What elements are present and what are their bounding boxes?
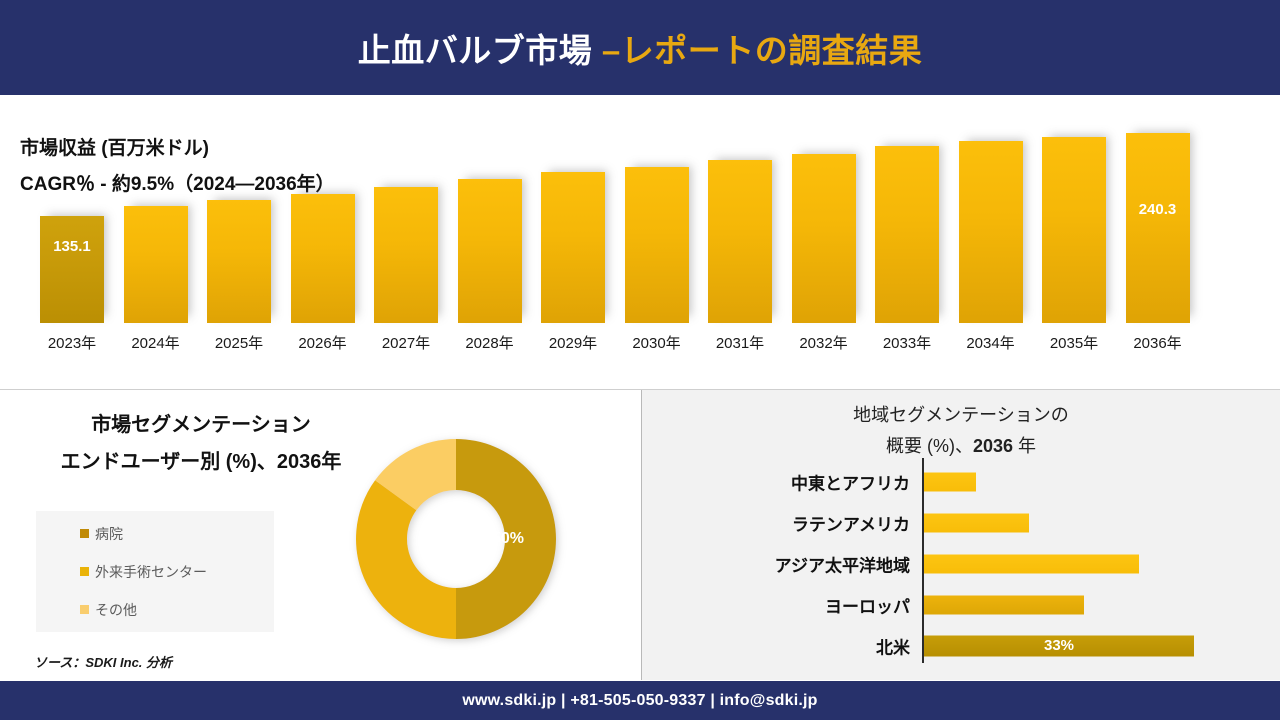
revenue-bars-container: 135.12023年2024年2025年2026年2027年2028年2029年… — [40, 121, 1240, 371]
region-row: ヨーロッパ — [642, 584, 1280, 625]
bar-category-label: 2026年 — [283, 332, 363, 353]
region-row-label: アジア太平洋地域 — [775, 551, 910, 576]
donut-slice — [356, 480, 456, 639]
region-row-label: ヨーロッパ — [825, 592, 910, 617]
bar-column: 2034年 — [959, 141, 1023, 323]
region-title: 地域セグメンテーションの 概要 (%)、2036 年 — [642, 401, 1280, 458]
bar-rect: 2029年 — [541, 172, 605, 323]
bar-column: 2024年 — [124, 206, 188, 323]
region-bar — [924, 595, 1084, 614]
bar-category-label: 2030年 — [617, 332, 697, 353]
legend-swatch-icon — [80, 529, 89, 538]
bar-column: 2030年 — [625, 167, 689, 323]
page-footer: www.sdki.jp | +81-505-050-9337 | info@sd… — [0, 681, 1280, 720]
page-title-secondary: –レポートの調査結果 — [602, 32, 922, 69]
donut-chart: 50% — [330, 414, 590, 664]
donut-title-line2: エンドユーザー別 (%)、2036年 — [36, 445, 366, 474]
region-row: 北米33% — [642, 625, 1280, 666]
bar-column: 2035年 — [1042, 137, 1106, 323]
bar-column: 2025年 — [207, 200, 271, 323]
bar-column: 2027年 — [374, 187, 438, 323]
bar-category-label: 2033年 — [867, 332, 947, 353]
donut-title-line1: 市場セグメンテーション — [36, 408, 366, 437]
region-bar — [924, 554, 1139, 573]
page-header: 止血バルブ市場 –レポートの調査結果 — [0, 0, 1280, 95]
bar-value-label: 240.3 — [1126, 201, 1190, 218]
legend-item: 外来手術センター — [80, 562, 274, 582]
infographic-page: 止血バルブ市場 –レポートの調査結果 市場収益 (百万米ドル) CAGR％ - … — [0, 0, 1280, 720]
region-bar — [924, 513, 1029, 532]
bar-category-label: 2036年 — [1118, 332, 1198, 353]
region-bar: 33% — [924, 635, 1194, 656]
bar-rect: 2031年 — [708, 160, 772, 323]
bar-column: 240.32036年 — [1126, 133, 1190, 323]
region-row-label: ラテンアメリカ — [792, 510, 910, 535]
donut-legend: 病院外来手術センターその他 — [36, 511, 274, 632]
bar-column: 2029年 — [541, 172, 605, 323]
region-bar-chart-panel: 地域セグメンテーションの 概要 (%)、2036 年 中東とアフリカラテンアメリ… — [642, 390, 1280, 680]
region-title-year: 2036 — [973, 436, 1013, 456]
bar-column: 2031年 — [708, 160, 772, 323]
bar-category-label: 2024年 — [116, 332, 196, 353]
page-title: 止血バルブ市場 –レポートの調査結果 — [358, 24, 923, 72]
region-row-label: 北米 — [876, 633, 910, 658]
bar-rect: 2032年 — [792, 154, 856, 323]
bar-rect: 2027年 — [374, 187, 438, 323]
bar-column: 2033年 — [875, 146, 939, 323]
bar-rect: 2034年 — [959, 141, 1023, 323]
bar-rect: 2033年 — [875, 146, 939, 323]
bar-category-label: 2027年 — [366, 332, 446, 353]
bar-column: 2028年 — [458, 179, 522, 323]
bar-rect: 240.32036年 — [1126, 133, 1190, 323]
region-row: アジア太平洋地域 — [642, 543, 1280, 584]
donut-svg — [330, 414, 590, 664]
bar-rect: 2024年 — [124, 206, 188, 323]
region-plot: 中東とアフリカラテンアメリカアジア太平洋地域ヨーロッパ北米33% — [642, 458, 1280, 670]
bar-category-label: 2023年 — [32, 332, 112, 353]
donut-title: 市場セグメンテーション エンドユーザー別 (%)、2036年 — [36, 408, 366, 474]
bar-category-label: 2032年 — [784, 332, 864, 353]
region-bar — [924, 472, 976, 491]
legend-item: その他 — [80, 600, 274, 620]
bar-column: 135.12023年 — [40, 216, 104, 323]
footer-contact: www.sdki.jp | +81-505-050-9337 | info@sd… — [462, 692, 817, 710]
legend-label: 外来手術センター — [95, 562, 207, 582]
bar-category-label: 2028年 — [450, 332, 530, 353]
revenue-bar-chart-panel: 市場収益 (百万米ドル) CAGR％ - 約9.5%（2024―2036年） 1… — [0, 101, 1280, 390]
bar-column: 2026年 — [291, 194, 355, 323]
legend-label: 病院 — [95, 524, 123, 544]
bar-category-label: 2034年 — [951, 332, 1031, 353]
region-row: 中東とアフリカ — [642, 461, 1280, 502]
bar-rect: 135.12023年 — [40, 216, 104, 323]
region-bar-value-label: 33% — [924, 637, 1194, 654]
region-row: ラテンアメリカ — [642, 502, 1280, 543]
region-row-label: 中東とアフリカ — [791, 469, 910, 494]
bar-value-label: 135.1 — [40, 238, 104, 255]
segmentation-donut-panel: 市場セグメンテーション エンドユーザー別 (%)、2036年 病院外来手術センタ… — [0, 390, 642, 680]
region-title-pre: 概要 (%)、 — [886, 436, 973, 456]
bar-category-label: 2025年 — [199, 332, 279, 353]
legend-swatch-icon — [80, 605, 89, 614]
bar-category-label: 2029年 — [533, 332, 613, 353]
region-title-line1: 地域セグメンテーションの — [642, 401, 1280, 427]
bar-category-label: 2031年 — [700, 332, 780, 353]
region-title-post: 年 — [1013, 436, 1036, 456]
bar-category-label: 2035年 — [1034, 332, 1114, 353]
bar-column: 2032年 — [792, 154, 856, 323]
region-title-line2: 概要 (%)、2036 年 — [642, 432, 1280, 458]
legend-swatch-icon — [80, 567, 89, 576]
bar-rect: 2028年 — [458, 179, 522, 323]
donut-center-percent: 50% — [492, 530, 524, 548]
bar-rect: 2035年 — [1042, 137, 1106, 323]
source-note: ソース：SDKI Inc. 分析 — [34, 652, 172, 671]
legend-item: 病院 — [80, 524, 274, 544]
bar-rect: 2030年 — [625, 167, 689, 323]
page-title-primary: 止血バルブ市場 — [358, 32, 602, 69]
bar-rect: 2026年 — [291, 194, 355, 323]
legend-label: その他 — [95, 600, 137, 620]
bar-rect: 2025年 — [207, 200, 271, 323]
